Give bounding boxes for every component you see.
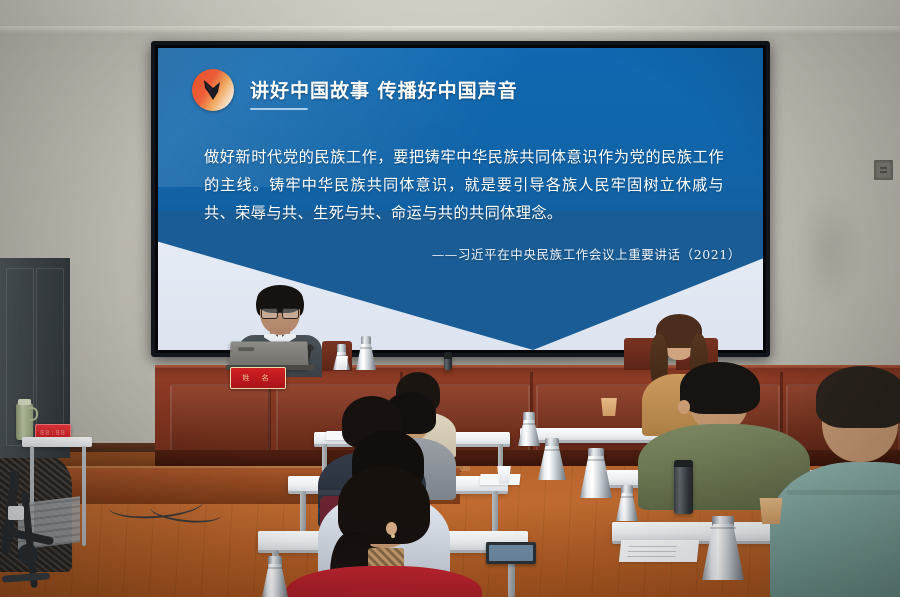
thermos-band	[544, 449, 561, 451]
bottle-handle	[28, 407, 38, 421]
folded-stroller	[0, 470, 92, 597]
power-outlet-icon	[874, 160, 893, 180]
stroller-bar	[2, 572, 50, 582]
torso	[286, 566, 482, 597]
cabinet-door	[36, 268, 64, 446]
thermos-body	[702, 524, 744, 580]
earring-icon	[391, 534, 395, 538]
name-placard: 姓 名	[230, 367, 286, 389]
printed-handout	[619, 540, 699, 562]
tumbler-lid	[444, 352, 452, 359]
hair	[680, 362, 760, 414]
presenter-glasses-icon	[261, 308, 299, 317]
green-water-bottle	[16, 403, 33, 440]
thermos-band	[267, 567, 283, 569]
thermos-band	[360, 347, 372, 349]
laptop-logo-icon	[238, 347, 254, 351]
slide-title-underline	[250, 108, 308, 110]
audience-member	[308, 478, 458, 597]
thermos	[616, 485, 638, 521]
thermos	[538, 438, 566, 480]
tablet-screen	[489, 545, 533, 561]
thermos	[262, 556, 288, 597]
slide-body-text: 做好新时代党的民族工作，要把铸牢中华民族共同体意识作为党的民族工作的主线。铸牢中…	[204, 143, 724, 227]
wall-shadow	[795, 190, 865, 310]
black-travel-tumbler	[674, 460, 693, 514]
tablet-device	[486, 542, 536, 564]
thermos	[518, 412, 540, 446]
thermos	[702, 516, 744, 580]
ceiling	[0, 0, 900, 28]
thermos-band	[620, 496, 633, 498]
red-circle-bird-logo-icon	[192, 69, 234, 111]
shirt-fold	[786, 490, 900, 495]
thermos-band	[522, 423, 535, 425]
ear	[678, 400, 690, 414]
thermos-band	[710, 527, 735, 529]
torso	[770, 462, 900, 597]
thermos-body	[580, 456, 612, 498]
thermos-body	[538, 446, 566, 480]
front-desk-panel	[170, 384, 270, 452]
ear	[386, 522, 397, 535]
bottle-lid	[18, 399, 31, 405]
slide-title: 讲好中国故事 传播好中国声音	[250, 76, 518, 103]
stroller-grip	[8, 506, 24, 520]
thermos	[580, 448, 612, 498]
thermos	[356, 336, 376, 370]
paper-cup	[600, 398, 618, 416]
name-placard-label: 姓 名	[231, 368, 285, 388]
paper-cup	[758, 498, 784, 524]
stroller-wheel	[18, 544, 38, 564]
thermos-band	[586, 459, 605, 461]
black-travel-tumbler	[444, 352, 452, 370]
bird-glyph-icon	[199, 76, 227, 104]
audience-member	[806, 370, 900, 597]
tumbler-lid	[674, 460, 693, 467]
hair	[816, 366, 900, 428]
meeting-room-photo: 讲好中国故事 传播好中国声音 做好新时代党的民族工作，要把铸牢中华民族共同体意识…	[0, 0, 900, 597]
slide-attribution: ——习近平在中央民族工作会议上重要讲话（2021）	[432, 244, 741, 263]
